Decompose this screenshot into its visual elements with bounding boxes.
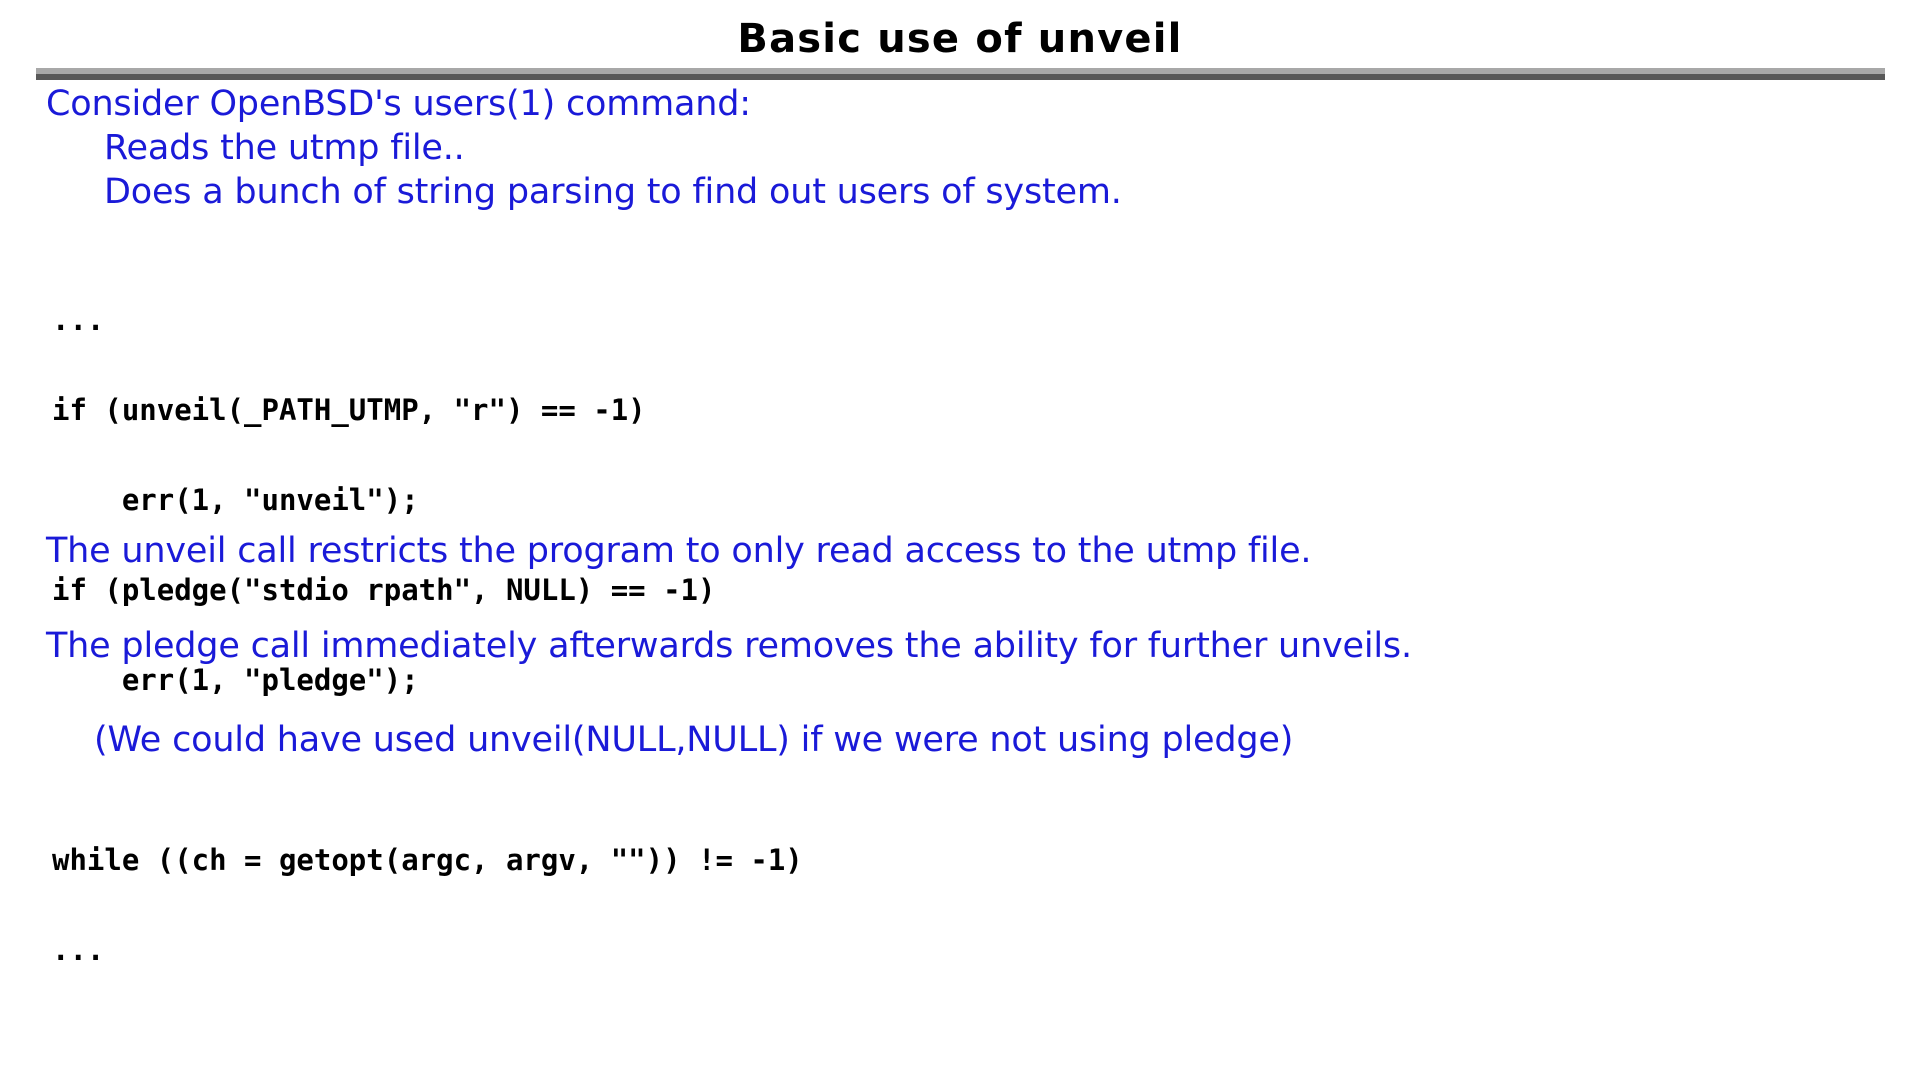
bullet-reads-utmp: Reads the utmp file.. xyxy=(104,126,465,170)
parenthetical-note: (We could have used unveil(NULL,NULL) if… xyxy=(94,718,1293,762)
bullet-string-parsing: Does a bunch of string parsing to find o… xyxy=(104,170,1122,214)
code-line: if (pledge("stdio rpath", NULL) == -1) xyxy=(52,575,803,605)
page-title: Basic use of unveil xyxy=(0,16,1920,62)
divider-band-dark xyxy=(36,74,1885,80)
code-line: while ((ch = getopt(argc, argv, "")) != … xyxy=(52,845,803,875)
code-line: err(1, "unveil"); xyxy=(52,485,803,515)
code-line: ... xyxy=(52,935,803,965)
explanation-pledge: The pledge call immediately afterwards r… xyxy=(46,624,1412,668)
slide: Basic use of unveil Consider OpenBSD's u… xyxy=(0,0,1920,1080)
code-line: ... xyxy=(52,305,803,335)
code-line: err(1, "pledge"); xyxy=(52,665,803,695)
title-divider xyxy=(36,68,1885,80)
explanation-unveil: The unveil call restricts the program to… xyxy=(46,529,1311,573)
intro-text: Consider OpenBSD's users(1) command: xyxy=(46,82,751,126)
code-line: if (unveil(_PATH_UTMP, "r") == -1) xyxy=(52,395,803,425)
